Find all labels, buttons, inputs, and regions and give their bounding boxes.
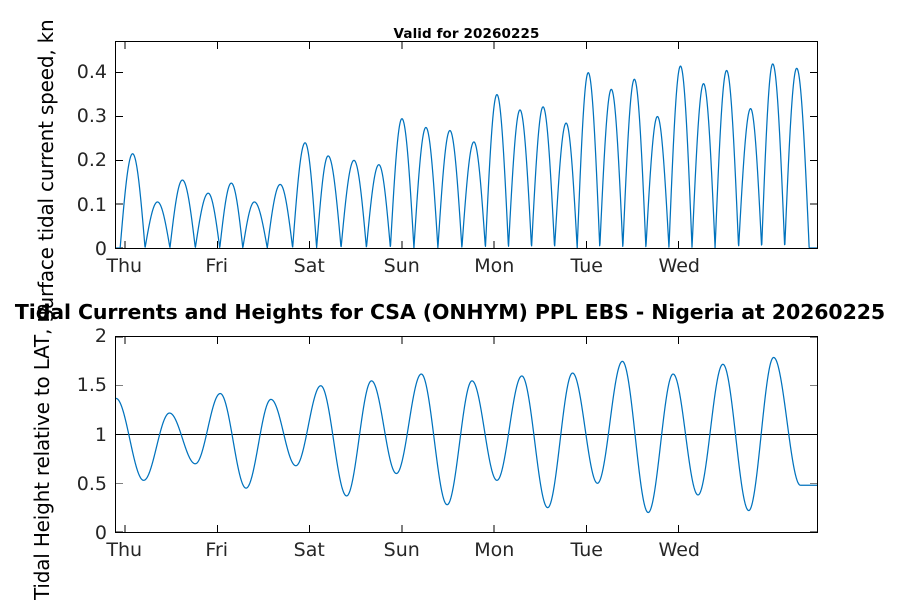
height-ytick-label: 1.5 <box>19 374 107 396</box>
height-xtick-label: Wed <box>659 539 700 561</box>
tidal-chart-figure: Tidal Currents and Heights for CSA (ONHY… <box>0 0 900 600</box>
tidal-height-plot-area <box>115 336 818 533</box>
height-xtick-label: Tue <box>571 539 603 561</box>
height-xtick-label: Sun <box>384 539 420 561</box>
height-ytick-label: 1 <box>19 424 107 446</box>
current-speed-curve-svg <box>116 42 817 248</box>
height-ytick-label: 2 <box>19 325 107 347</box>
height-xtick-label: Sat <box>294 539 325 561</box>
height-xtick-label: Mon <box>474 539 514 561</box>
current-xtick-label: Sat <box>294 255 325 277</box>
current-ytick-label: 0.4 <box>19 61 107 83</box>
current-ytick-label: 0 <box>19 238 107 260</box>
main-title: Tidal Currents and Heights for CSA (ONHY… <box>15 300 885 324</box>
height-ytick-label: 0 <box>19 522 107 544</box>
panel-subtitle: Valid for 20260225 <box>115 26 818 42</box>
current-xtick-label: Thu <box>106 255 142 277</box>
current-xtick-label: Mon <box>474 255 514 277</box>
current-xtick-label: Wed <box>659 255 700 277</box>
height-xtick-label: Fri <box>205 539 228 561</box>
current-xtick-label: Tue <box>571 255 603 277</box>
current-ytick-label: 0.2 <box>19 149 107 171</box>
height-ytick-label: 0.5 <box>19 473 107 495</box>
current-speed-plot-area <box>115 41 818 249</box>
current-xtick-label: Sun <box>384 255 420 277</box>
y-axis-label-height: Tidal Height relative to LAT, m <box>30 303 54 600</box>
current-ytick-label: 0.1 <box>19 194 107 216</box>
tidal-height-curve-svg <box>116 337 817 532</box>
height-xtick-label: Thu <box>106 539 142 561</box>
current-xtick-label: Fri <box>205 255 228 277</box>
current-ytick-label: 0.3 <box>19 105 107 127</box>
